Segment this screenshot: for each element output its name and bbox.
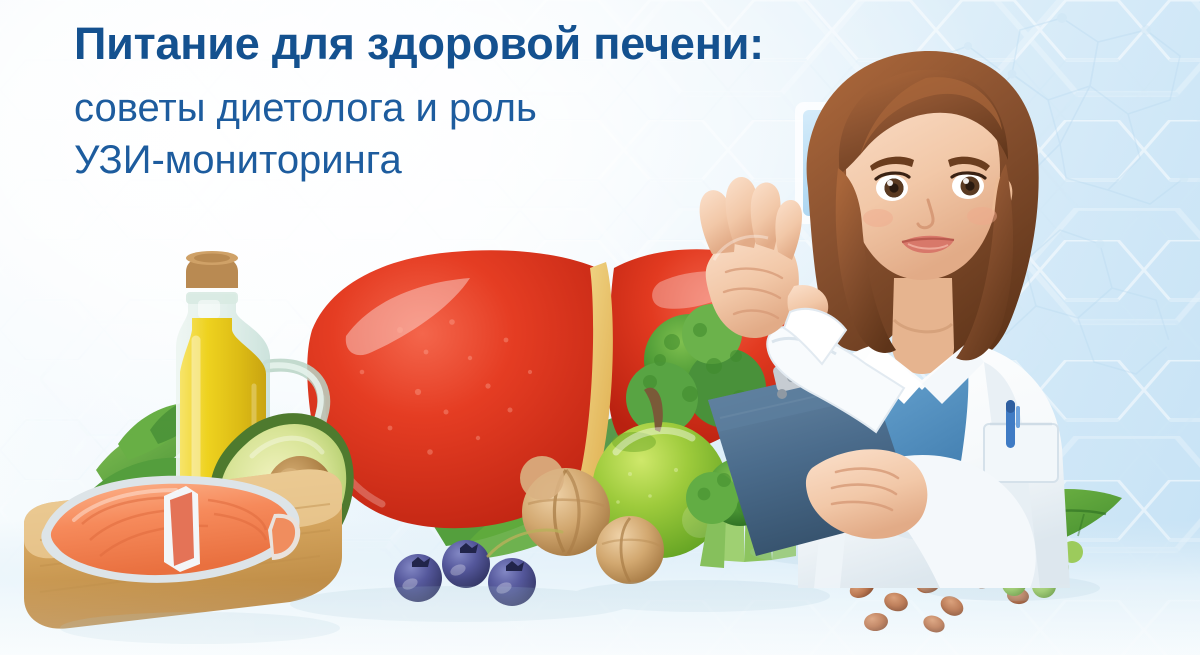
banner-root: Питание для здоровой печени: советы диет…: [0, 0, 1200, 655]
subtitle-line-2: УЗИ-мониторинга: [74, 134, 904, 186]
page-subtitle: советы диетолога и роль УЗИ-мониторинга: [74, 82, 904, 186]
page-title: Питание для здоровой печени:: [74, 20, 904, 68]
coat-pocket: [984, 424, 1058, 482]
subtitle-line-1: советы диетолога и роль: [74, 82, 904, 134]
headline-block: Питание для здоровой печени: советы диет…: [74, 20, 904, 186]
